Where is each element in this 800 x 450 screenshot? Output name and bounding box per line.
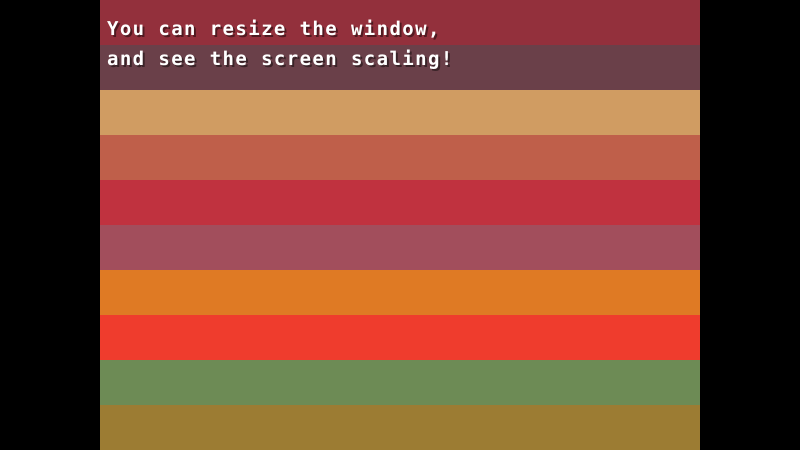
- band-brick: [100, 135, 700, 180]
- scaled-viewport: [100, 0, 700, 450]
- app-window: You can resize the window, and see the s…: [0, 0, 800, 450]
- band-orange: [100, 270, 700, 315]
- band-wine: [100, 45, 700, 90]
- band-ochre: [100, 405, 700, 450]
- band-crimson: [100, 180, 700, 225]
- letterbox-bar-right: [700, 0, 800, 450]
- letterbox-bar-left: [0, 0, 100, 450]
- band-dark-crimson: [100, 0, 700, 45]
- band-red-orange: [100, 315, 700, 360]
- band-sand: [100, 90, 700, 135]
- band-olive-green: [100, 360, 700, 405]
- band-dusty-rose: [100, 225, 700, 270]
